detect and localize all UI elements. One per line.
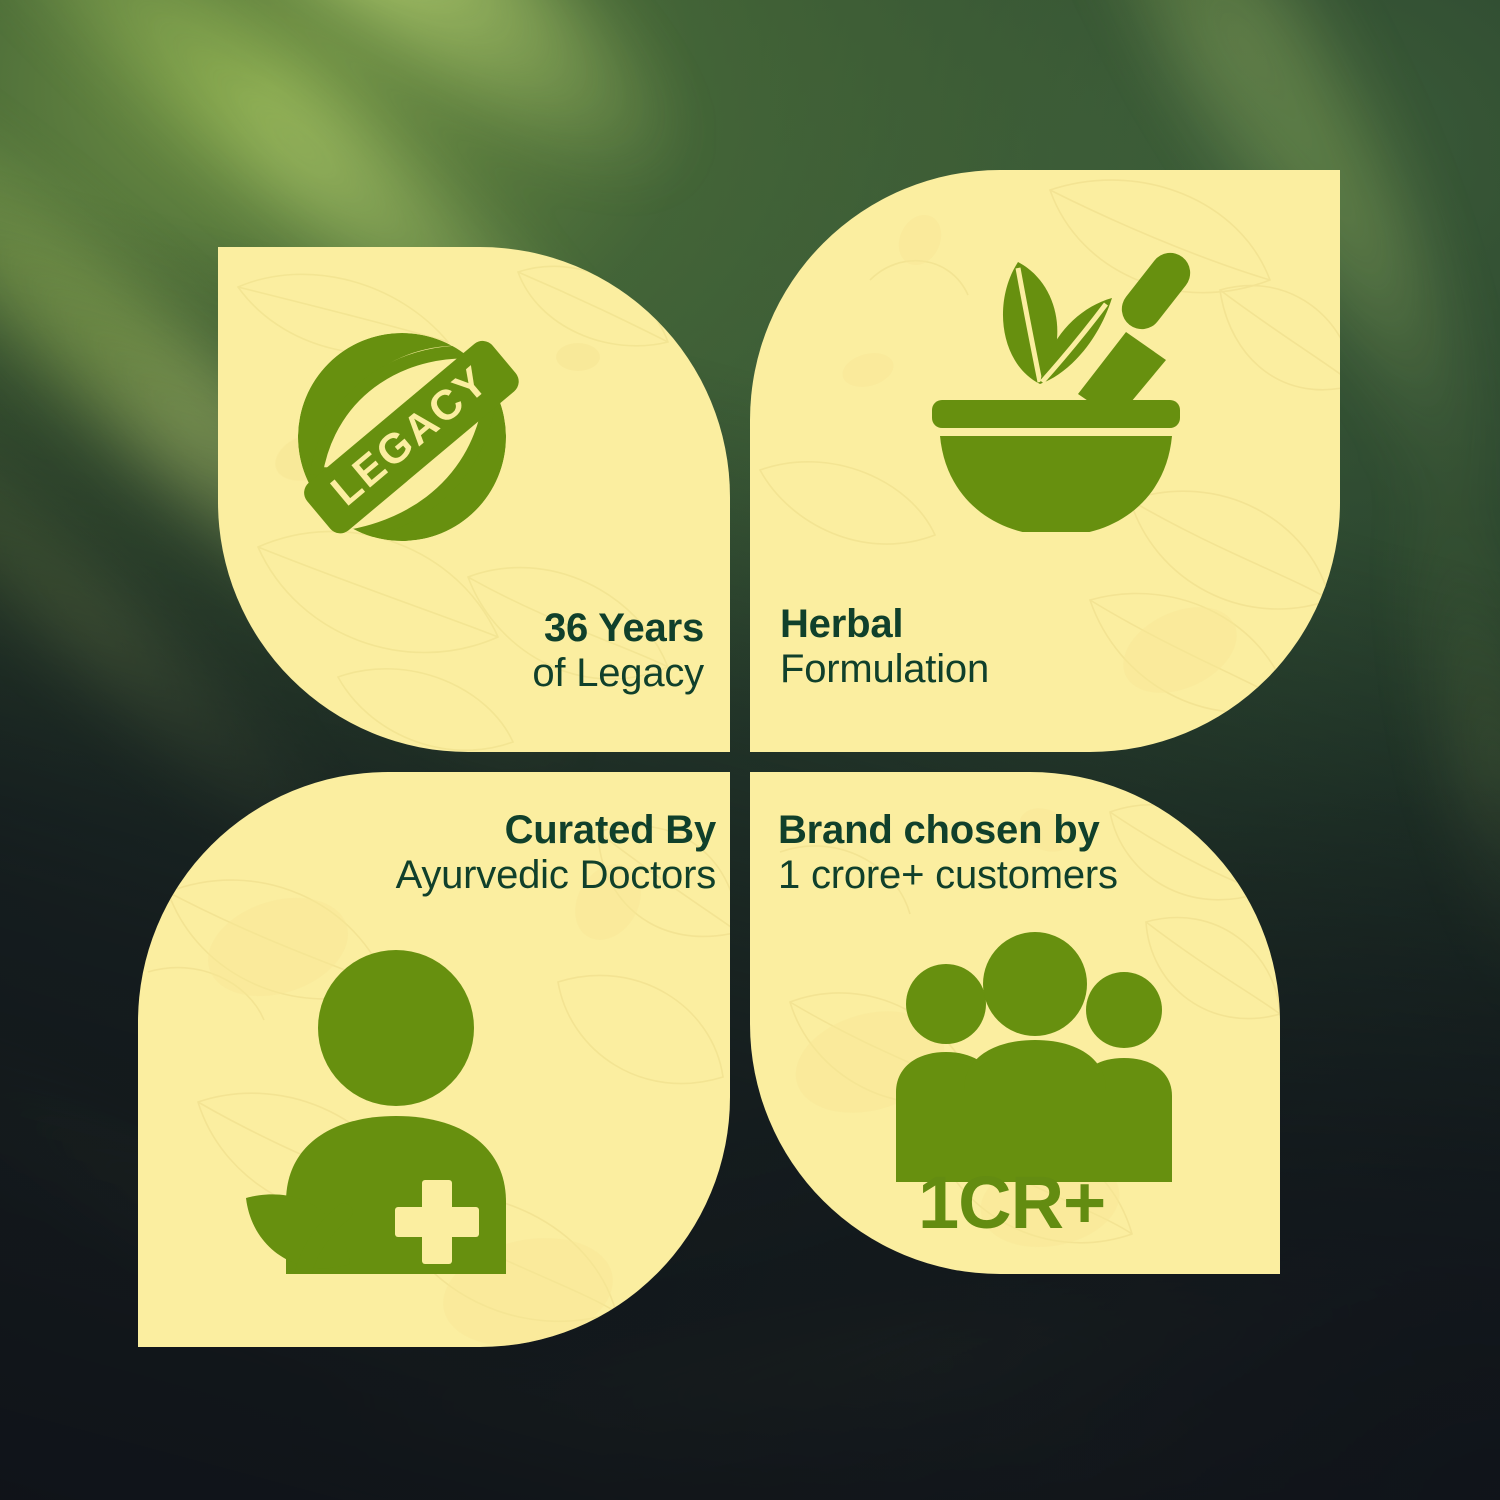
- customer-count-badge: 1CR+: [918, 1160, 1105, 1245]
- panel-curated[interactable]: Curated By Ayurvedic Doctors: [138, 772, 730, 1347]
- doctor-with-leaf-icon: [226, 944, 566, 1274]
- panel-legacy[interactable]: LEGACY 36 Years of Legacy: [218, 247, 730, 752]
- panel-curated-line2: Ayurvedic Doctors: [396, 853, 716, 898]
- legacy-seal-icon: LEGACY: [280, 307, 540, 567]
- panel-herbal-line1: Herbal: [780, 602, 989, 647]
- panel-legacy-line2: of Legacy: [532, 651, 704, 696]
- infographic-stage: LEGACY 36 Years of Legacy: [0, 0, 1500, 1500]
- benefits-petal-grid: LEGACY 36 Years of Legacy: [138, 170, 1286, 1278]
- panel-herbal[interactable]: Herbal Formulation: [750, 170, 1340, 752]
- panel-customers[interactable]: 1CR+ Brand chosen by 1 crore+ customers: [750, 772, 1280, 1274]
- panel-customers-caption: Brand chosen by 1 crore+ customers: [778, 808, 1118, 898]
- group-of-people-icon: [890, 932, 1180, 1182]
- panel-curated-caption: Curated By Ayurvedic Doctors: [396, 808, 716, 898]
- panel-herbal-caption: Herbal Formulation: [780, 602, 989, 692]
- panel-legacy-caption: 36 Years of Legacy: [532, 606, 704, 696]
- mortar-and-pestle-icon: [900, 232, 1210, 532]
- panel-legacy-line1: 36 Years: [532, 606, 704, 651]
- panel-customers-line1: Brand chosen by: [778, 808, 1118, 853]
- panel-customers-line2: 1 crore+ customers: [778, 853, 1118, 898]
- panel-curated-line1: Curated By: [396, 808, 716, 853]
- panel-herbal-line2: Formulation: [780, 647, 989, 692]
